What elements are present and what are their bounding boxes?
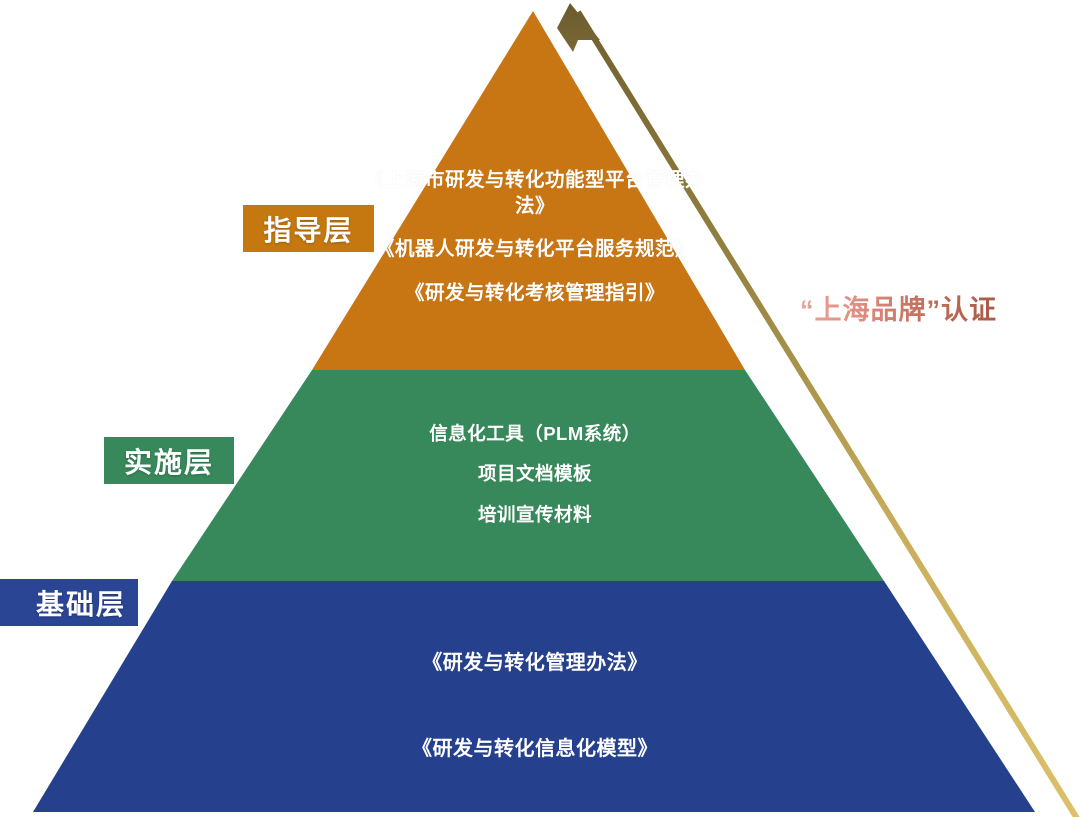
pyramid-layer-foundation [33, 581, 1035, 812]
pyramid-graphic [0, 0, 1080, 817]
layer-label-implementation[interactable]: 实施层 [104, 437, 234, 484]
diagram-canvas: 《上海市研发与转化功能型平台管理办法》 《机器人研发与转化平台服务规范》 《研发… [0, 0, 1080, 817]
brand-certification-annotation: “上海品牌”认证 [800, 288, 997, 327]
pyramid-layer-implementation [172, 370, 884, 581]
upward-growth-arrow-head [557, 3, 600, 52]
layer-label-guiding[interactable]: 指导层 [243, 205, 374, 252]
pyramid-layer-guiding [312, 11, 745, 370]
layer-label-foundation[interactable]: 基础层 [0, 579, 138, 626]
